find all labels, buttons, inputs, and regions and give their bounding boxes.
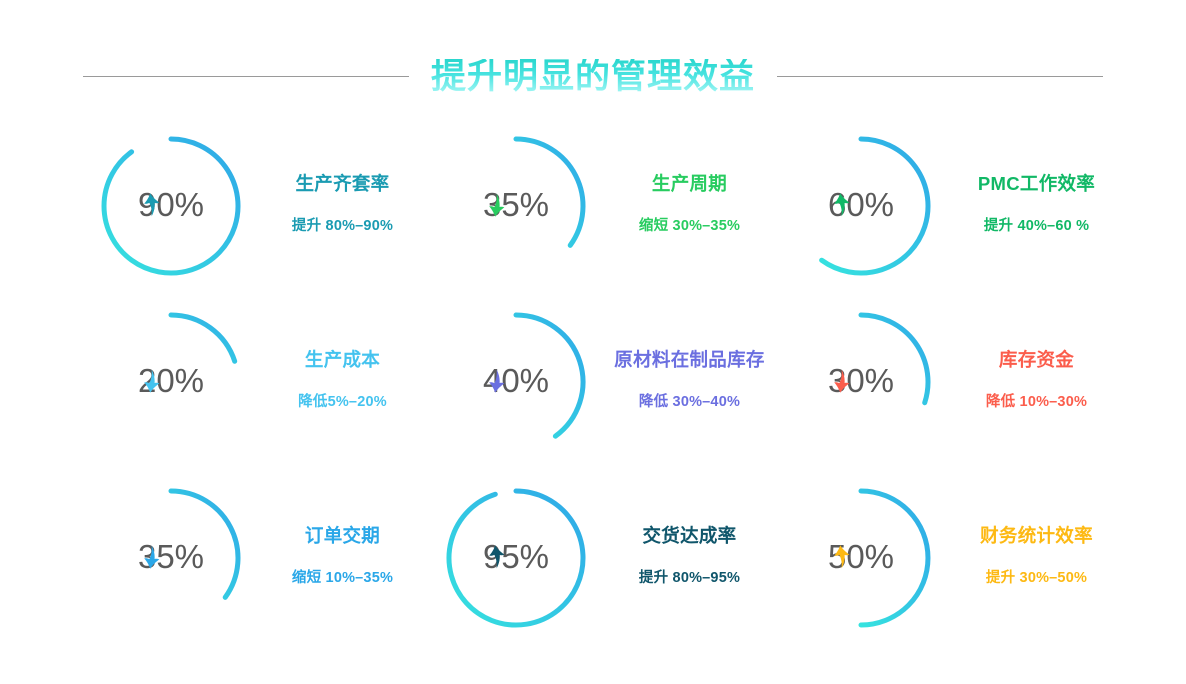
metric-title: 财务统计效率 [980,525,1093,546]
metric-title: PMC工作效率 [978,173,1095,194]
metric-subtitle: 提升 80%–95% [639,570,740,587]
metric-text: 交货达成率提升 80%–95% [597,525,782,591]
metric-card-delivery-achievement-rate: 95%交货达成率提升 80%–95% [441,470,786,646]
metric-card-financial-statistics-efficiency: 50%财务统计效率提升 30%–50% [786,470,1131,646]
gauge-center: 35% [138,540,204,573]
gauge-pmc-work-efficiency: 60% [786,131,936,281]
gauge-center: 90% [138,188,204,221]
metric-text: 库存资金降低 10%–30% [944,349,1129,415]
metric-title: 生产成本 [305,349,380,370]
trend-up-arrow-icon [828,544,856,570]
metric-title: 生产周期 [652,173,727,194]
gauge-production-cycle: 35% [441,131,591,281]
metric-text: PMC工作效率提升 40%–60 % [944,173,1129,239]
metric-card-pmc-work-efficiency: 60%PMC工作效率提升 40%–60 % [786,118,1131,294]
metric-title: 订单交期 [305,525,380,546]
metric-text: 财务统计效率提升 30%–50% [944,525,1129,591]
metric-text: 原材料在制品库存降低 30%–40% [597,349,782,415]
page-title: 提升明显的管理效益 [431,59,755,94]
metric-subtitle: 提升 30%–50% [986,570,1087,587]
gauge-center: 30% [828,364,894,397]
metric-subtitle: 提升 40%–60 % [984,218,1089,235]
gauge-inventory-capital: 30% [786,307,936,457]
metric-text: 生产周期缩短 30%–35% [597,173,782,239]
metric-subtitle: 缩短 30%–35% [639,218,740,235]
metric-text: 生产齐套率提升 80%–90% [250,173,435,239]
gauge-center: 95% [483,540,549,573]
gauge-production-cost: 20% [96,307,246,457]
trend-up-arrow-icon [138,192,166,218]
gauge-order-delivery-cycle: 35% [96,483,246,633]
metric-card-production-cost: 20%生产成本降低5%–20% [96,294,441,470]
gauge-delivery-achievement-rate: 95% [441,483,591,633]
metric-card-production-kitting-rate: 90%生产齐套率提升 80%–90% [96,118,441,294]
trend-down-arrow-icon [483,368,511,394]
metric-subtitle: 降低 10%–30% [986,394,1087,411]
gauge-raw-material-wip-inventory: 40% [441,307,591,457]
gauge-center: 40% [483,364,549,397]
metric-card-order-delivery-cycle: 35%订单交期缩短 10%–35% [96,470,441,646]
trend-up-arrow-icon [828,192,856,218]
metric-subtitle: 降低 30%–40% [639,394,740,411]
metric-title: 原材料在制品库存 [614,349,764,370]
metric-title: 交货达成率 [642,525,736,546]
gauge-arc [171,315,235,361]
page-header: 提升明显的管理效益 [0,48,1186,104]
metric-text: 订单交期缩短 10%–35% [250,525,435,591]
metric-card-production-cycle: 35%生产周期缩短 30%–35% [441,118,786,294]
metric-text: 生产成本降低5%–20% [250,349,435,415]
trend-down-arrow-icon [483,192,511,218]
gauge-financial-statistics-efficiency: 50% [786,483,936,633]
metric-title: 库存资金 [999,349,1074,370]
gauge-center: 35% [483,188,549,221]
metric-card-inventory-capital: 30%库存资金降低 10%–30% [786,294,1131,470]
gauge-production-kitting-rate: 90% [96,131,246,281]
gauge-center: 50% [828,540,894,573]
metric-subtitle: 缩短 10%–35% [292,570,393,587]
trend-up-arrow-icon [483,544,511,570]
metric-subtitle: 提升 80%–90% [292,218,393,235]
metric-subtitle: 降低5%–20% [298,394,387,411]
metric-title: 生产齐套率 [295,173,389,194]
gauge-center: 20% [138,364,204,397]
trend-down-arrow-icon [138,544,166,570]
infographic-page: 提升明显的管理效益 90%生产齐套率提升 80%–90%35%生产周期缩短 30… [0,0,1186,684]
gauge-center: 60% [828,188,894,221]
trend-down-arrow-icon [138,368,166,394]
header-rule-left [83,76,409,77]
trend-down-arrow-icon [828,368,856,394]
metric-grid: 90%生产齐套率提升 80%–90%35%生产周期缩短 30%–35%60%PM… [96,118,1096,648]
metric-card-raw-material-wip-inventory: 40%原材料在制品库存降低 30%–40% [441,294,786,470]
header-rule-right [777,76,1103,77]
